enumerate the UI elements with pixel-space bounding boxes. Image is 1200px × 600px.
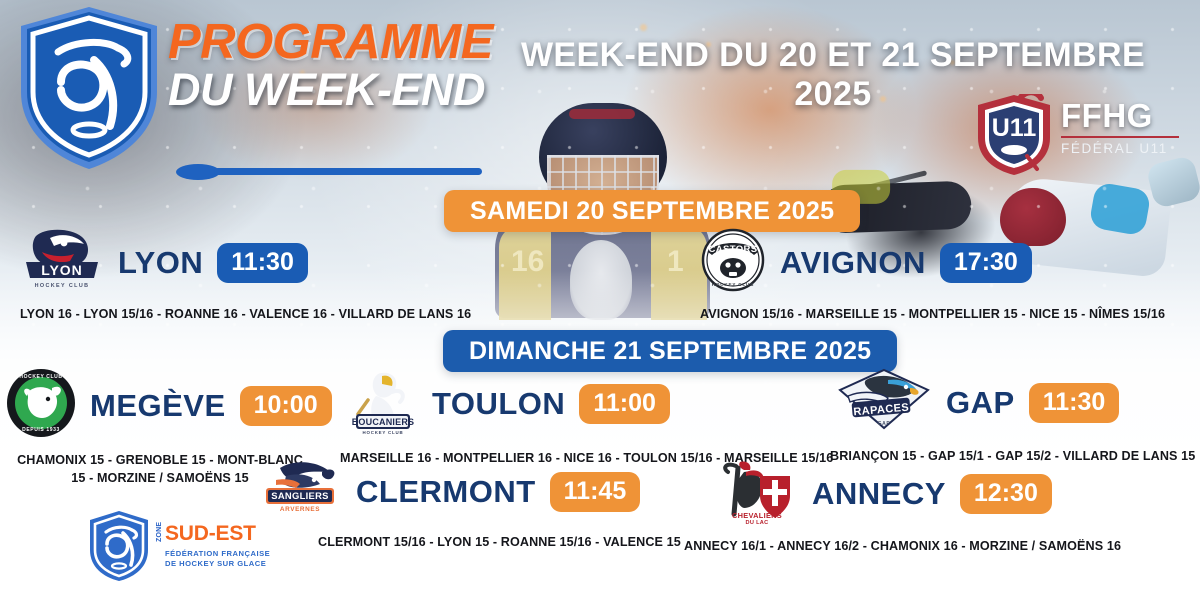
- match-host-name: LYON: [118, 245, 203, 281]
- poster-canvas: 16 1 PROGRAMME DU WEEK-END: [0, 0, 1200, 600]
- federation-line1: FÉDÉRATION FRANÇAISE: [165, 549, 270, 559]
- match-time-badge: 10:00: [240, 386, 332, 426]
- match-annecy[interactable]: CHEVALIERS DU LAC ANNECY 12:30 ANNECY 16…: [716, 458, 1121, 556]
- avignon-castors-logo-icon: CASTORS HOCKEY CLUB: [700, 228, 766, 297]
- federation-line2: DE HOCKEY SUR GLACE: [165, 559, 270, 569]
- zone-sud-est-logo: ZONE SUD-EST FÉDÉRATION FRANÇAISE DE HOC…: [88, 510, 308, 588]
- svg-text:U11: U11: [992, 114, 1037, 142]
- match-time-badge: 11:30: [217, 243, 308, 283]
- match-clermont[interactable]: SANGLIERS ARVERNES CLERMONT 11:45 CLERMO…: [256, 458, 681, 552]
- annecy-chevaliers-logo-icon: CHEVALIERS DU LAC: [716, 458, 798, 529]
- ffhg-divider: [1061, 136, 1179, 138]
- program-title-line1: PROGRAMME: [168, 20, 488, 65]
- match-teams-list: LYON 16 - LYON 15/16 - ROANNE 16 - VALEN…: [20, 306, 471, 324]
- toulon-boucaniers-logo-icon: BOUCANIERS HOCKEY CLUB: [348, 366, 418, 441]
- svg-text:BOUCANIERS: BOUCANIERS: [352, 417, 415, 427]
- svg-text:DU LAC: DU LAC: [746, 520, 769, 524]
- ffhg-sudest-shield-logo: [14, 4, 164, 172]
- ffhg-u11-lockup: U11 FFHG FÉDÉRAL U11: [975, 95, 1190, 173]
- day-banner-saturday: SAMEDI 20 SEPTEMBRE 2025: [444, 190, 860, 232]
- bokeh-dot: [640, 24, 647, 31]
- match-teams-list: ANNECY 16/1 - ANNECY 16/2 - CHAMONIX 16 …: [684, 538, 1121, 556]
- program-title: PROGRAMME DU WEEK-END: [168, 20, 488, 113]
- ffhg-subtitle: FÉDÉRAL U11: [1061, 141, 1191, 156]
- match-host-name: ANNECY: [812, 476, 946, 512]
- match-time-badge: 11:30: [1029, 383, 1120, 423]
- ffhg-wordmark: FFHG FÉDÉRAL U11: [1061, 99, 1191, 156]
- zone-label: ZONE: [156, 524, 163, 542]
- megeve-logo-icon: HOCKEY CLUB DEPUIS 1933: [6, 368, 76, 443]
- match-avignon[interactable]: CASTORS HOCKEY CLUB AVIGNON 17:30 AVIGNO…: [700, 228, 1165, 324]
- svg-text:HOCKEY CLUB: HOCKEY CLUB: [19, 374, 62, 380]
- match-toulon[interactable]: BOUCANIERS HOCKEY CLUB TOULON 11:00 MARS…: [348, 366, 833, 468]
- match-time-badge: 12:30: [960, 474, 1052, 514]
- sudest-shield-icon: [88, 510, 150, 582]
- match-host-name: TOULON: [432, 386, 565, 422]
- svg-text:HOCKEY CLUB: HOCKEY CLUB: [363, 430, 404, 435]
- svg-text:DEPUIS 1933: DEPUIS 1933: [22, 427, 60, 433]
- match-teams-list: AVIGNON 15/16 - MARSEILLE 15 - MONTPELLI…: [700, 306, 1165, 324]
- match-host-name: GAP: [946, 385, 1015, 421]
- match-lyon[interactable]: LYON HOCKEY CLUB LYON 11:30 LYON 16 - LY…: [20, 228, 471, 324]
- svg-text:LYON: LYON: [41, 262, 83, 278]
- svg-text:CASTORS: CASTORS: [708, 244, 757, 255]
- match-host-name: AVIGNON: [780, 245, 926, 281]
- ffhg-text: FFHG: [1061, 99, 1191, 132]
- match-host-name: CLERMONT: [356, 474, 536, 510]
- svg-text:HOCKEY CLUB: HOCKEY CLUB: [35, 283, 90, 289]
- sudest-label: SUD-EST: [165, 523, 270, 544]
- svg-text:GAP: GAP: [878, 421, 891, 427]
- match-gap[interactable]: RAPACES GAP GAP 11:30 BRIANÇON 15 - GAP …: [836, 366, 1195, 466]
- match-time-badge: 11:00: [579, 384, 670, 424]
- puck-underline: [176, 165, 486, 177]
- lyon-logo-icon: LYON HOCKEY CLUB: [20, 228, 104, 297]
- match-time-badge: 17:30: [940, 243, 1032, 283]
- match-time-badge: 11:45: [550, 472, 641, 512]
- svg-text:HOCKEY CLUB: HOCKEY CLUB: [712, 282, 754, 287]
- u11-badge-icon: U11: [975, 94, 1053, 176]
- program-title-line2: DU WEEK-END: [168, 67, 488, 113]
- match-teams-list: CLERMONT 15/16 - LYON 15 - ROANNE 15/16 …: [318, 534, 681, 552]
- svg-text:SANGLIERS: SANGLIERS: [271, 490, 328, 501]
- gap-rapaces-logo-icon: RAPACES GAP: [836, 366, 932, 439]
- svg-text:CHEVALIERS: CHEVALIERS: [732, 511, 782, 520]
- match-host-name: MEGÈVE: [90, 388, 226, 424]
- sudest-wordmark: ZONE SUD-EST FÉDÉRATION FRANÇAISE DE HOC…: [156, 523, 270, 570]
